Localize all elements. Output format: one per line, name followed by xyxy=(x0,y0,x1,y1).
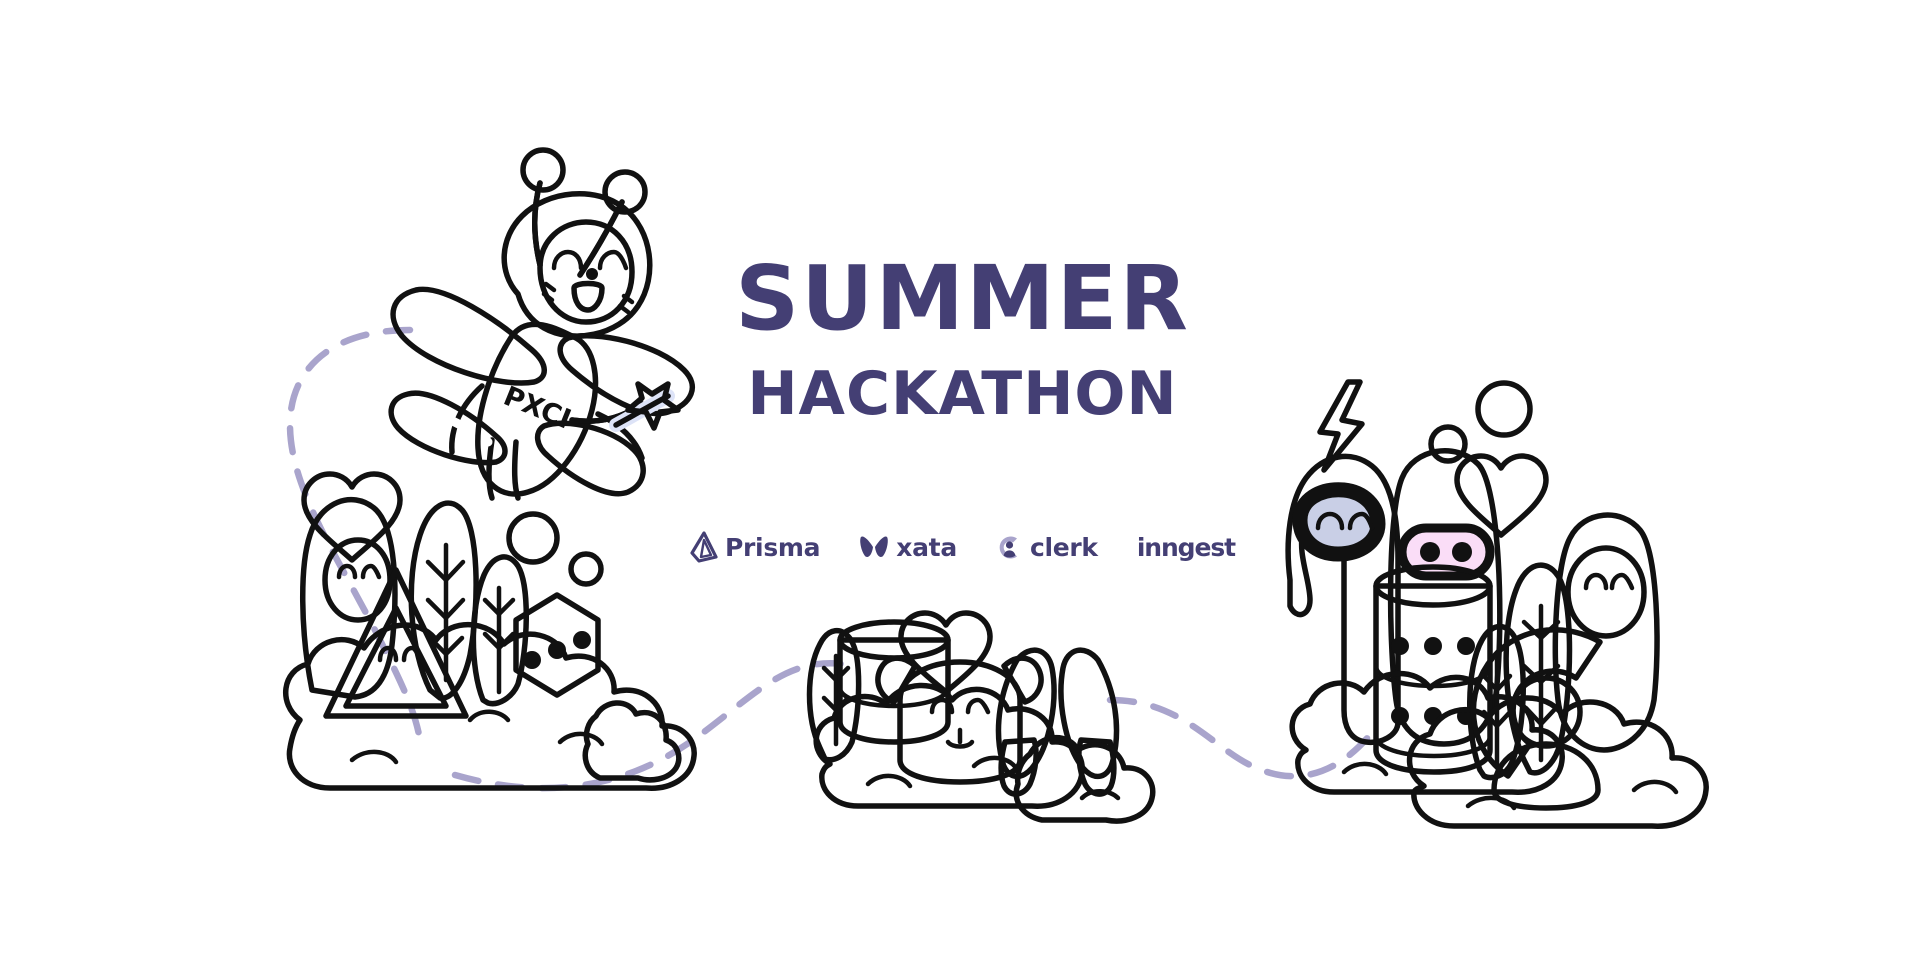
middle-cloud-scene xyxy=(810,613,1153,821)
xata-butterfly-icon xyxy=(859,533,889,561)
fairy-wing-upper-right xyxy=(560,336,692,414)
flight-path-middle xyxy=(455,663,850,788)
inngest-bear-character xyxy=(878,658,1041,782)
flight-path-right xyxy=(1110,700,1370,776)
hexagon-three-dots xyxy=(516,595,598,695)
yellow-circle-large xyxy=(509,514,557,562)
right-cloud-scene xyxy=(1288,382,1706,826)
fairy-body: PXCI xyxy=(478,324,596,494)
left-cloud-scene xyxy=(286,474,694,788)
sponsor-logo-clerk[interactable]: clerk xyxy=(996,533,1098,562)
sponsor-label-prisma: Prisma xyxy=(725,533,820,562)
illustration-canvas: .ink { stroke:#111111; stroke-width:7; s… xyxy=(0,0,1920,960)
yellow-circle-small xyxy=(571,554,601,584)
sponsor-label-xata: xata xyxy=(896,533,957,562)
sponsor-label-clerk: clerk xyxy=(1030,533,1098,562)
sponsor-logo-prisma[interactable]: Prisma xyxy=(690,531,820,563)
sponsor-logo-row: Prisma xata clerk inngest xyxy=(690,531,1235,563)
purple-arch-visor-character xyxy=(1288,456,1398,742)
heart-icon-right xyxy=(1457,456,1546,535)
sponsor-logo-inngest[interactable]: inngest xyxy=(1137,533,1235,562)
yellow-circle-large-right xyxy=(1478,383,1530,435)
fairy-body-text: PXCI xyxy=(499,381,575,436)
fairy-head xyxy=(504,194,650,336)
prisma-triangle-icon xyxy=(690,531,718,563)
clerk-arc-person-icon xyxy=(996,534,1023,561)
sponsor-logo-xata[interactable]: xata xyxy=(859,533,957,562)
pxci-fairy-bug: PXCI xyxy=(391,150,692,498)
sponsor-label-inngest: inngest xyxy=(1137,533,1235,562)
summer-hackathon-banner: .ink { stroke:#111111; stroke-width:7; s… xyxy=(0,0,1920,960)
